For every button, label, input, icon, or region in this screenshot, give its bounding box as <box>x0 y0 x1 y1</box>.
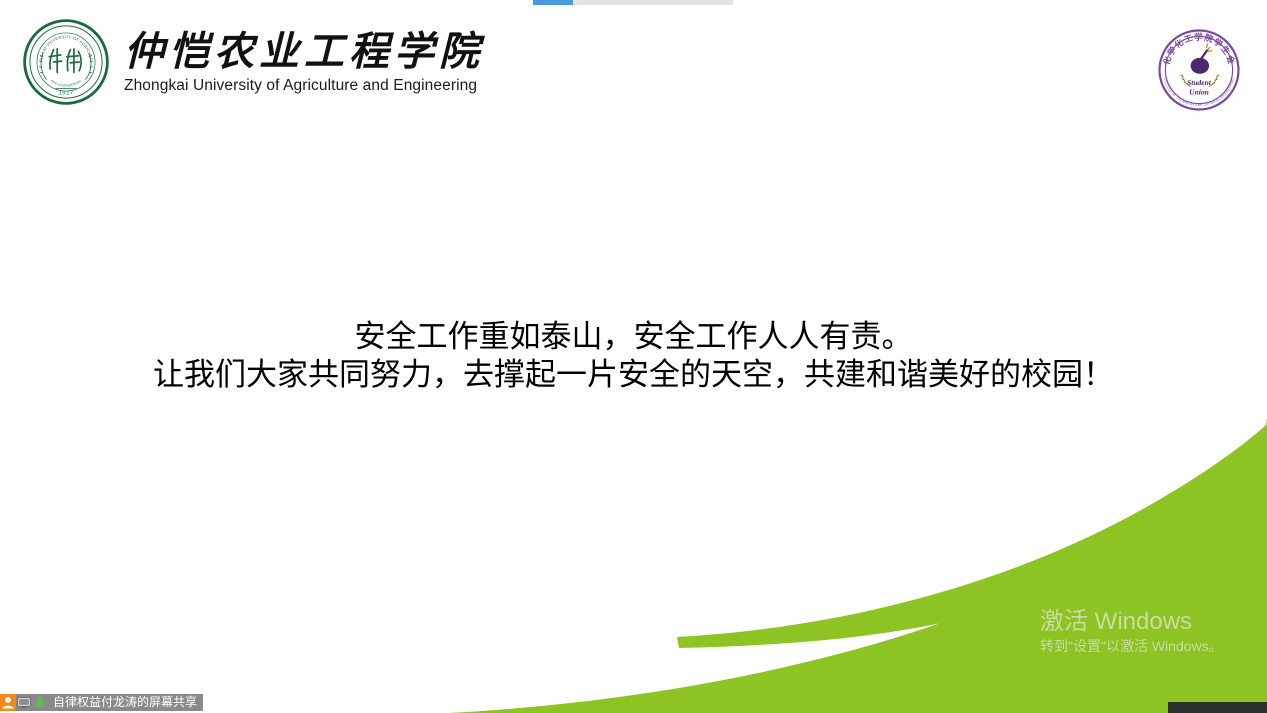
svg-text:AND ENGINEERING: AND ENGINEERING <box>50 79 83 88</box>
screen-share-indicator[interactable]: 自律权益付龙涛的屏幕共享 <box>0 694 203 711</box>
svg-text:Union: Union <box>1189 87 1209 96</box>
university-logo: ZHONGKAI UNIVERSITY OF AGRICULTURE AND E… <box>22 16 442 108</box>
bottom-dark-bar <box>1168 702 1267 713</box>
svg-text:Student: Student <box>1187 78 1212 87</box>
slogan-block: 安全工作重如泰山，安全工作人人有责。 让我们大家共同努力，去撑起一片安全的天空，… <box>0 318 1267 394</box>
university-seal-icon: ZHONGKAI UNIVERSITY OF AGRICULTURE AND E… <box>22 18 110 106</box>
screen-share-label: 自律权益付龙涛的屏幕共享 <box>53 694 197 711</box>
svg-text:1927: 1927 <box>59 91 74 97</box>
university-name-en: Zhongkai University of Agriculture and E… <box>124 76 484 96</box>
slide-canvas: ZHONGKAI UNIVERSITY OF AGRICULTURE AND E… <box>0 0 1267 713</box>
university-wordmark: 仲恺农业工程学院 Zhongkai University of Agricult… <box>124 28 484 96</box>
student-union-logo: 化学化工学院学生会 COLLEGE OF CHEMISTRY AND CHEMI… <box>1157 28 1241 112</box>
screen-icon[interactable] <box>16 694 32 711</box>
flask-icon <box>1191 44 1212 74</box>
university-name-cn: 仲恺农业工程学院 <box>124 28 484 76</box>
loading-progress-strip[interactable] <box>533 0 733 5</box>
slogan-line-2: 让我们大家共同努力，去撑起一片安全的天空，共建和谐美好的校园！ <box>0 356 1267 394</box>
loading-progress-fill <box>533 0 573 5</box>
microphone-icon[interactable] <box>32 694 48 711</box>
person-icon[interactable] <box>0 694 16 711</box>
slogan-line-1: 安全工作重如泰山，安全工作人人有责。 <box>0 318 1267 356</box>
